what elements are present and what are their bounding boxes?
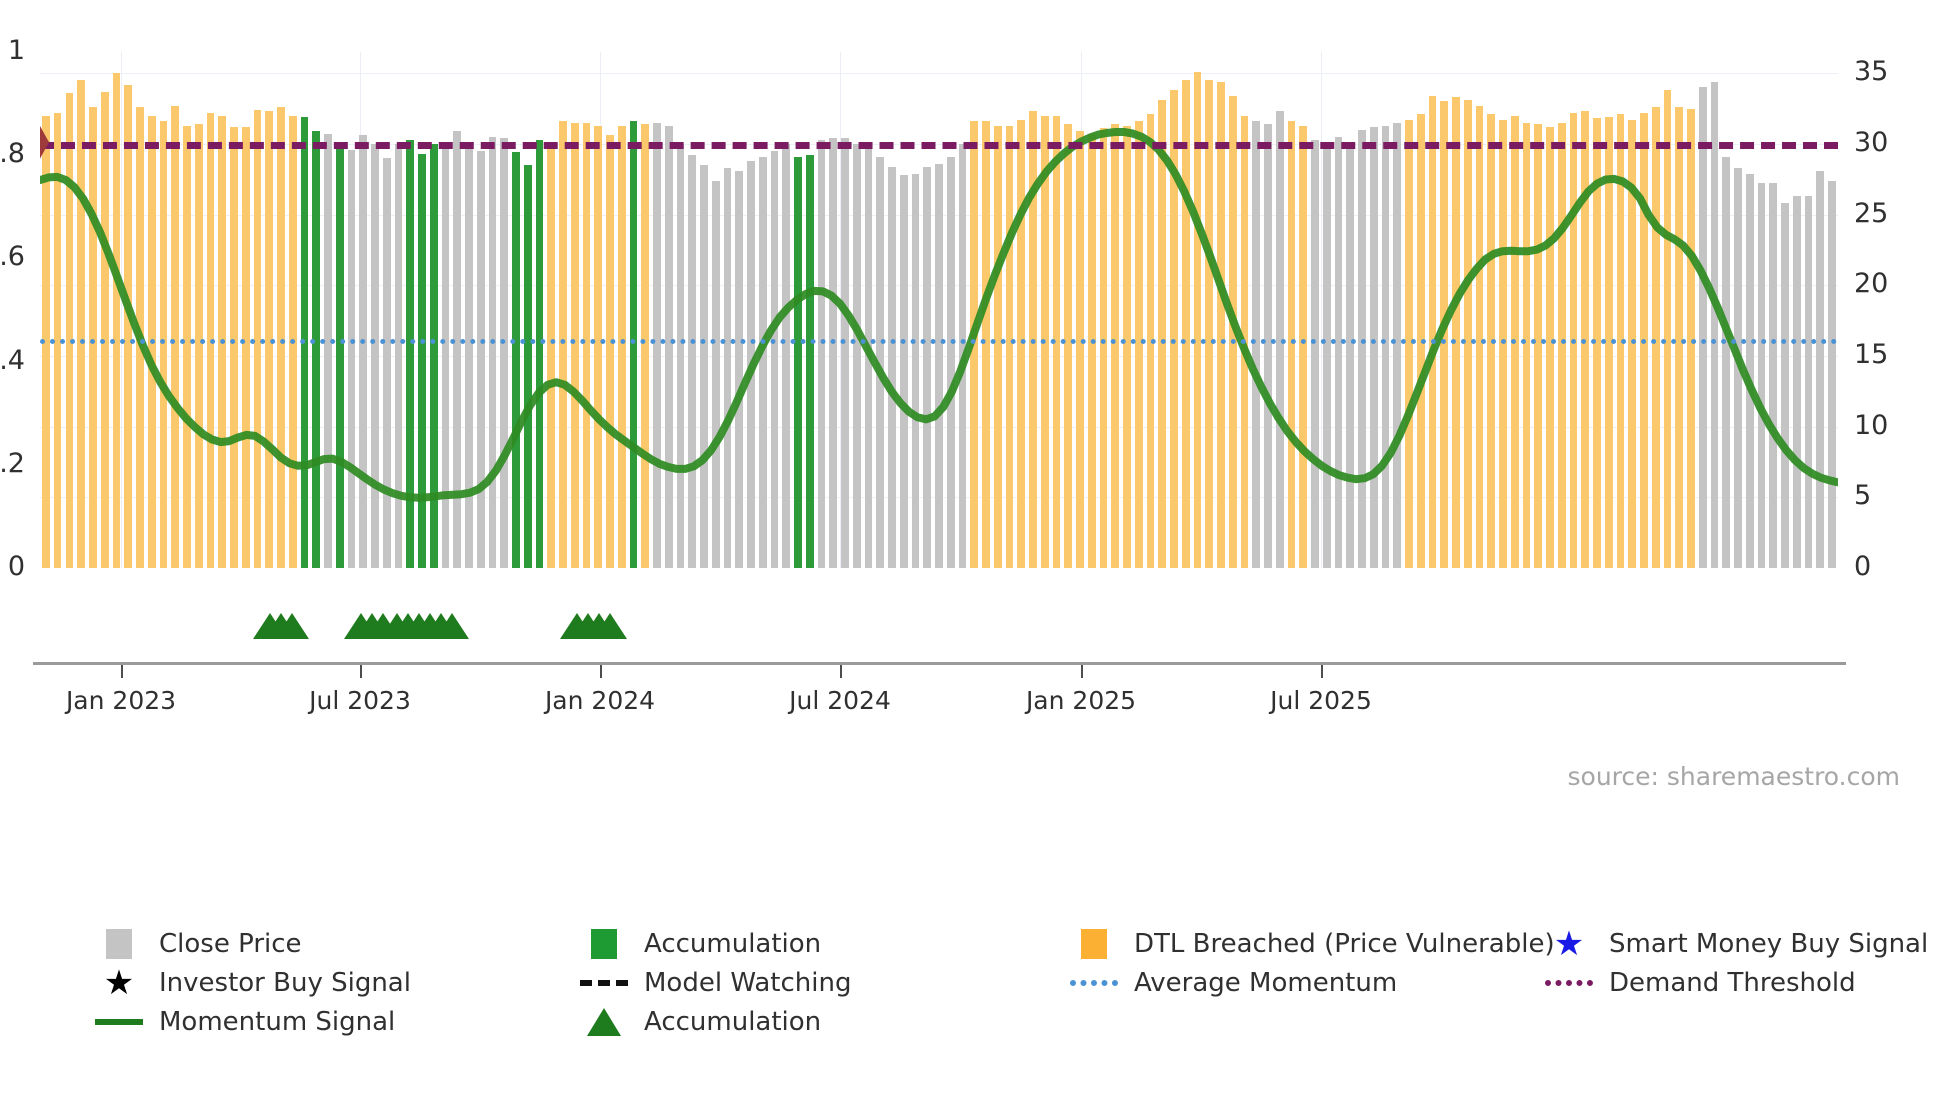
legend-label: Model Watching <box>644 968 851 998</box>
triangle-up-icon <box>580 1005 628 1039</box>
y-tick-left-0.6: 0.6 <box>0 241 25 272</box>
y-tick-right-25: 25 <box>1854 198 1934 229</box>
star-icon: ★ <box>95 966 143 1000</box>
legend-label: Investor Buy Signal <box>159 968 411 998</box>
legend-smart-money-buy-signal[interactable]: ★Smart Money Buy Signal <box>1545 925 1928 963</box>
x-tick-mark-3 <box>840 665 842 678</box>
source-attribution: source: sharemaestro.com <box>1200 762 1900 791</box>
legend-accumulation-bar[interactable]: Accumulation <box>580 925 821 963</box>
y-tick-right-20: 20 <box>1854 268 1934 299</box>
legend-label: Average Momentum <box>1134 968 1397 998</box>
legend-label: Momentum Signal <box>159 1007 395 1037</box>
x-tick-mark-2 <box>600 665 602 678</box>
x-tick-label-jul-2024: Jul 2024 <box>730 686 950 715</box>
legend-label: Close Price <box>159 929 302 959</box>
x-tick-mark-5 <box>1321 665 1323 678</box>
y-tick-left-0.8: 0.8 <box>0 138 25 169</box>
legend-label: Accumulation <box>644 1007 821 1037</box>
legend-row-0: Close PriceAccumulationDTL Breached (Pri… <box>0 925 1960 963</box>
y-tick-left-1: 1 <box>0 35 25 66</box>
y-tick-right-5: 5 <box>1854 480 1934 511</box>
average-momentum-line <box>40 339 1838 344</box>
dashed-line-icon <box>580 966 628 1000</box>
y-tick-right-10: 10 <box>1854 410 1934 441</box>
x-tick-mark-0 <box>121 665 123 678</box>
accumulation-triangle-marker <box>275 613 309 639</box>
accumulation-triangle-marker <box>593 613 627 639</box>
y-tick-left-0.2: 0.2 <box>0 448 25 479</box>
x-tick-mark-4 <box>1081 665 1083 678</box>
y-tick-left-0: 0 <box>0 551 25 582</box>
legend-accumulation-marker[interactable]: Accumulation <box>580 1003 821 1041</box>
momentum-signal-line <box>40 52 1838 568</box>
y-tick-left-0.4: 0.4 <box>0 345 25 376</box>
chart-root: 00.20.40.60.81 05101520253035 Jan 2023Ju… <box>0 0 1960 1102</box>
legend-investor-buy-signal[interactable]: ★Investor Buy Signal <box>95 964 411 1002</box>
x-tick-label-jul-2023: Jul 2023 <box>250 686 470 715</box>
x-tick-label-jan-2025: Jan 2025 <box>971 686 1191 715</box>
x-tick-label-jan-2024: Jan 2024 <box>490 686 710 715</box>
legend-demand-threshold[interactable]: Demand Threshold <box>1545 964 1856 1002</box>
line-swatch-icon <box>95 1005 143 1039</box>
legend-label: Smart Money Buy Signal <box>1609 929 1928 959</box>
accumulation-triangle-marker <box>435 613 469 639</box>
legend-model-watching[interactable]: Model Watching <box>580 964 851 1002</box>
y-tick-right-30: 30 <box>1854 127 1934 158</box>
legend-label: Accumulation <box>644 929 821 959</box>
demand-threshold-line <box>40 142 1838 149</box>
chart-legend: Close PriceAccumulationDTL Breached (Pri… <box>0 925 1960 1042</box>
dotted-line-icon <box>1545 966 1593 1000</box>
legend-close-price[interactable]: Close Price <box>95 925 302 963</box>
x-tick-mark-1 <box>360 665 362 678</box>
plot-area <box>40 52 1838 568</box>
legend-label: DTL Breached (Price Vulnerable) <box>1134 929 1555 959</box>
legend-dtl-breached[interactable]: DTL Breached (Price Vulnerable) <box>1070 925 1555 963</box>
x-tick-label-jul-2025: Jul 2025 <box>1211 686 1431 715</box>
dotted-line-icon <box>1070 966 1118 1000</box>
square-swatch-icon <box>580 927 628 961</box>
square-swatch-icon <box>95 927 143 961</box>
y-tick-right-0: 0 <box>1854 551 1934 582</box>
y-tick-right-15: 15 <box>1854 339 1934 370</box>
legend-average-momentum[interactable]: Average Momentum <box>1070 964 1397 1002</box>
x-axis-line <box>33 662 1846 665</box>
x-tick-label-jan-2023: Jan 2023 <box>11 686 231 715</box>
legend-row-1: ★Investor Buy SignalModel WatchingAverag… <box>0 964 1960 1002</box>
legend-momentum-signal[interactable]: Momentum Signal <box>95 1003 395 1041</box>
star-icon: ★ <box>1545 927 1593 961</box>
legend-label: Demand Threshold <box>1609 968 1856 998</box>
y-tick-right-35: 35 <box>1854 56 1934 87</box>
legend-row-2: Momentum SignalAccumulation <box>0 1003 1960 1041</box>
square-swatch-icon <box>1070 927 1118 961</box>
